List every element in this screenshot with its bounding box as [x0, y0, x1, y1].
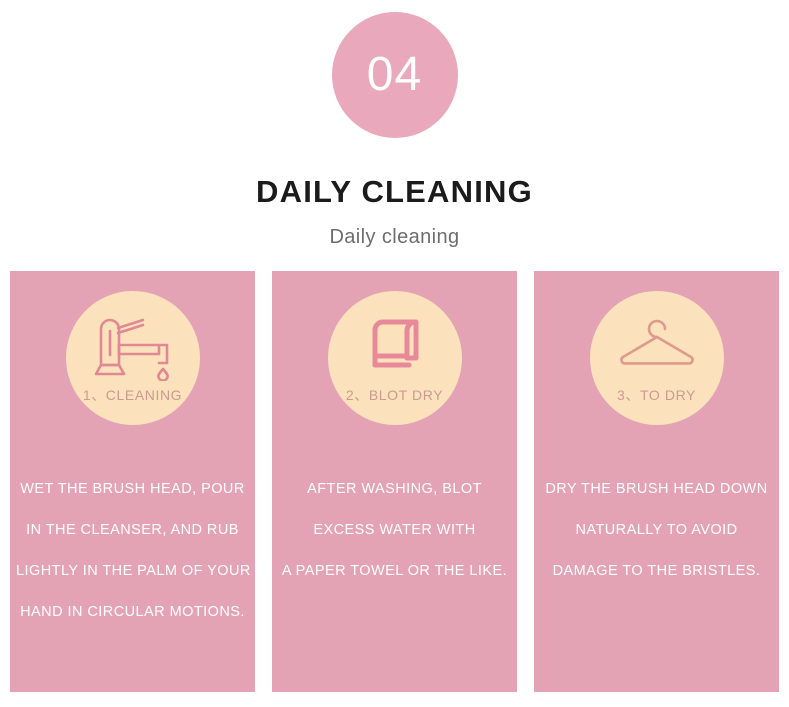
faucet-icon	[87, 309, 179, 381]
card-line: IN THE CLEANSER, AND RUB	[16, 510, 249, 551]
card-line: WET THE BRUSH HEAD, POUR	[16, 469, 249, 510]
page-subtitle: Daily cleaning	[329, 226, 459, 249]
card-line: EXCESS WATER WITH	[278, 510, 511, 551]
step-card-cleaning: 1、CLEANING WET THE BRUSH HEAD, POUR IN T…	[10, 271, 255, 692]
card-line: DRY THE BRUSH HEAD DOWN	[540, 469, 773, 510]
card-line: LIGHTLY IN THE PALM OF YOUR	[16, 551, 249, 592]
folded-towel-icon	[349, 309, 441, 381]
step-number-badge: 04	[332, 12, 458, 138]
card-body-to-dry: DRY THE BRUSH HEAD DOWN NATURALLY TO AVO…	[534, 469, 779, 592]
icon-label-to-dry: 3、TO DRY	[590, 385, 724, 405]
steps-card-row: 1、CLEANING WET THE BRUSH HEAD, POUR IN T…	[10, 271, 779, 692]
card-line: A PAPER TOWEL OR THE LIKE.	[278, 551, 511, 592]
icon-circle-blot-dry: 2、BLOT DRY	[328, 291, 462, 425]
step-card-to-dry: 3、TO DRY DRY THE BRUSH HEAD DOWN NATURAL…	[534, 271, 779, 692]
card-body-blot-dry: AFTER WASHING, BLOT EXCESS WATER WITH A …	[272, 469, 517, 592]
icon-label-cleaning: 1、CLEANING	[66, 385, 200, 405]
page-title: DAILY CLEANING	[256, 174, 533, 210]
card-line: DAMAGE TO THE BRISTLES.	[540, 551, 773, 592]
step-card-blot-dry: 2、BLOT DRY AFTER WASHING, BLOT EXCESS WA…	[272, 271, 517, 692]
icon-label-blot-dry: 2、BLOT DRY	[328, 385, 462, 405]
card-line: AFTER WASHING, BLOT	[278, 469, 511, 510]
page-header: 04 DAILY CLEANING Daily cleaning	[0, 0, 789, 249]
card-body-cleaning: WET THE BRUSH HEAD, POUR IN THE CLEANSER…	[10, 469, 255, 633]
card-line: HAND IN CIRCULAR MOTIONS.	[16, 592, 249, 633]
card-line: NATURALLY TO AVOID	[540, 510, 773, 551]
step-number-label: 04	[367, 51, 422, 99]
clothes-hanger-icon	[611, 309, 703, 381]
icon-circle-to-dry: 3、TO DRY	[590, 291, 724, 425]
icon-circle-cleaning: 1、CLEANING	[66, 291, 200, 425]
